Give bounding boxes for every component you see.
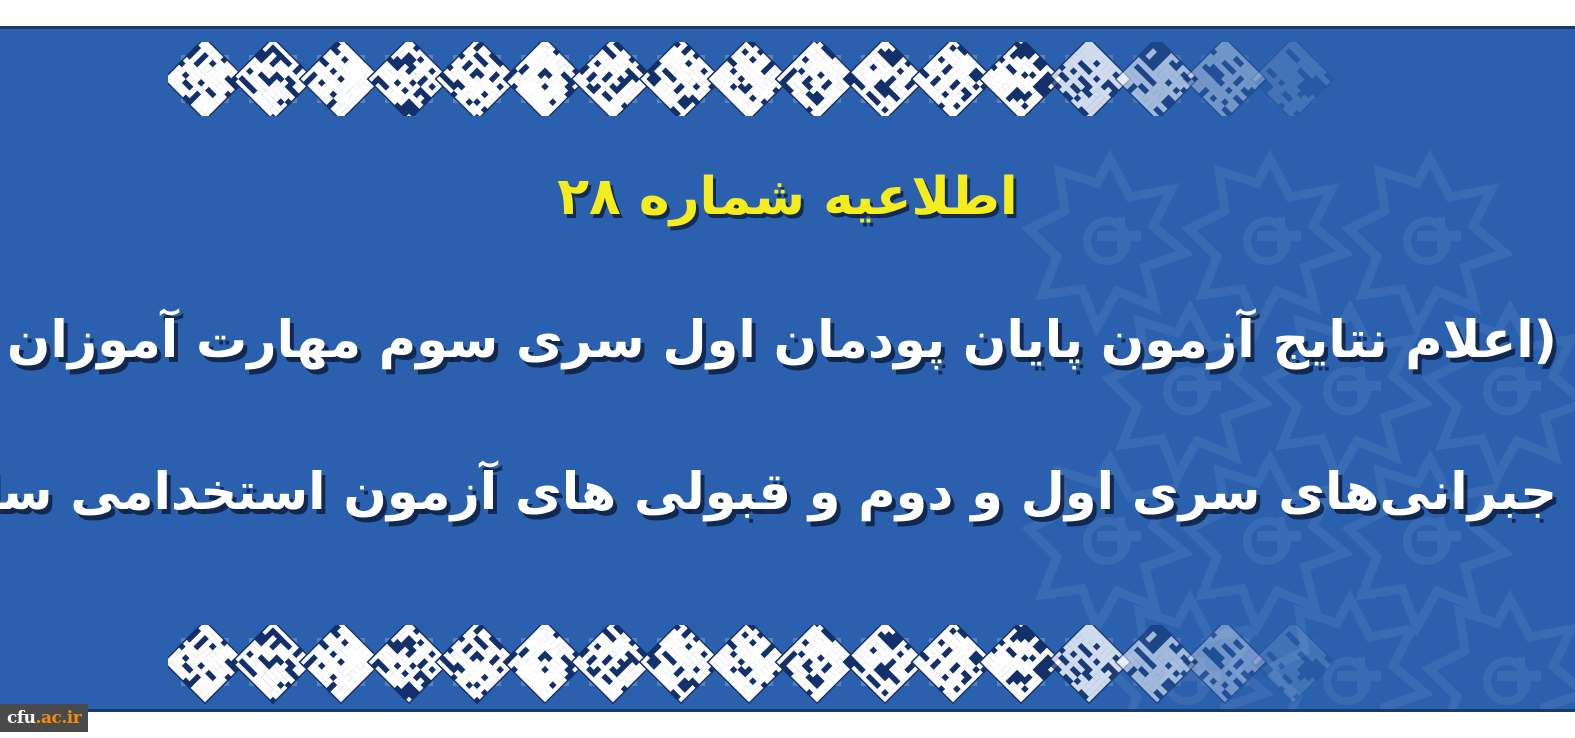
kufic-diamond-motif xyxy=(644,42,718,116)
kufic-diamond-motif xyxy=(236,42,310,116)
kufic-diamond-motif xyxy=(984,42,1058,116)
top-kufic-border xyxy=(168,42,1408,116)
kufic-diamond-motif xyxy=(916,625,990,699)
kufic-diamond-motif xyxy=(1120,625,1194,699)
kufic-diamond-motif xyxy=(1188,42,1262,116)
kufic-diamond-motif xyxy=(372,42,446,116)
kufic-diamond-motif xyxy=(712,42,786,116)
announcement-banner: اطلاعیه شماره ۲۸ (اعلام نتایج آزمون پایا… xyxy=(0,0,1575,738)
body-line-1: (اعلام نتایج آزمون پایان پودمان اول سری … xyxy=(18,311,1557,370)
kufic-diamond-motif xyxy=(236,625,310,699)
kufic-diamond-motif xyxy=(508,625,582,699)
kufic-diamond-motif xyxy=(916,42,990,116)
kufic-diamond-motif xyxy=(304,625,378,699)
kufic-diamond-motif xyxy=(508,42,582,116)
kufic-diamond-motif xyxy=(576,625,650,699)
bottom-white-strip xyxy=(0,712,1575,738)
kufic-diamond-motif xyxy=(1052,625,1126,699)
kufic-diamond-motif xyxy=(168,42,242,116)
kufic-diamond-motif xyxy=(848,42,922,116)
kufic-diamond-motif xyxy=(1188,625,1262,699)
kufic-diamond-motif xyxy=(1120,42,1194,116)
kufic-diamond-motif xyxy=(984,625,1058,699)
watermark-name: cfu xyxy=(7,708,36,728)
kufic-diamond-motif xyxy=(440,625,514,699)
kufic-diamond-motif xyxy=(372,625,446,699)
kufic-diamond-motif xyxy=(576,42,650,116)
border-edge-tick-icon xyxy=(168,655,172,669)
poster-body: اطلاعیه شماره ۲۸ (اعلام نتایج آزمون پایا… xyxy=(0,29,1575,712)
kufic-diamond-motif xyxy=(712,625,786,699)
kufic-diamond-motif xyxy=(848,625,922,699)
body-line-2: جبرانی‌های سری اول و دوم و قبولی های آزم… xyxy=(18,463,1557,522)
border-edge-tick-icon xyxy=(168,72,172,86)
kufic-diamond-motif xyxy=(168,625,242,699)
page-title: اطلاعیه شماره ۲۸ xyxy=(0,169,1575,226)
kufic-diamond-motif xyxy=(1256,625,1330,699)
watermark-domain: .ac.ir xyxy=(36,708,82,728)
site-watermark: cfu .ac.ir xyxy=(0,704,88,732)
top-white-strip xyxy=(0,0,1575,26)
kufic-diamond-motif xyxy=(440,42,514,116)
kufic-diamond-motif xyxy=(1256,42,1330,116)
kufic-diamond-motif xyxy=(304,42,378,116)
kufic-diamond-motif xyxy=(780,42,854,116)
kufic-diamond-motif xyxy=(1052,42,1126,116)
bottom-kufic-border xyxy=(168,625,1408,711)
kufic-diamond-motif xyxy=(780,625,854,699)
kufic-diamond-motif xyxy=(644,625,718,699)
islamic-geometric-watermark-icon xyxy=(995,149,1575,712)
